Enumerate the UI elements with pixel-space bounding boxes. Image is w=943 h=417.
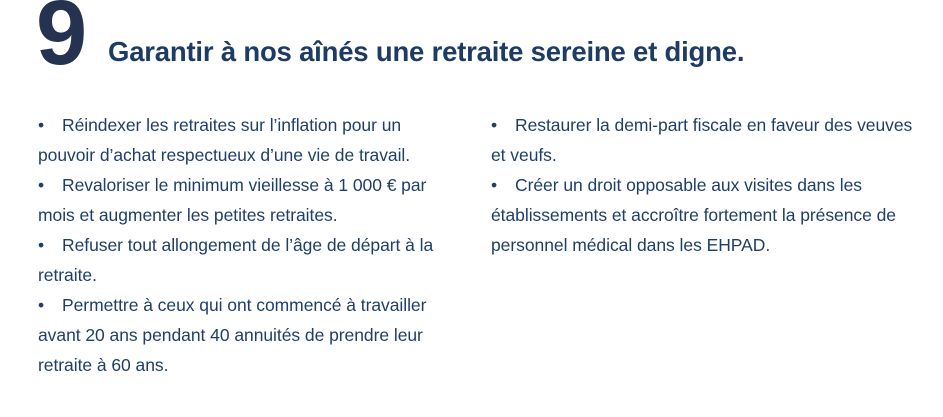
list-item: •Revaloriser le minimum vieillesse à 1 0… (38, 170, 458, 230)
list-item-text: Créer un droit opposable aux visites dan… (491, 175, 896, 255)
list-item-text: Réindexer les retraites sur l’inflation … (38, 115, 410, 165)
list-item-text: Restaurer la demi-part fiscale en faveur… (491, 115, 912, 165)
section-number: 9 (36, 0, 85, 79)
right-column: •Restaurer la demi-part fiscale en faveu… (491, 110, 916, 260)
list-item: •Permettre à ceux qui ont commencé à tra… (38, 290, 458, 380)
list-item: •Refuser tout allongement de l’âge de dé… (38, 230, 458, 290)
page-title: Garantir à nos aînés une retraite serein… (108, 35, 744, 69)
right-bullet-list: •Restaurer la demi-part fiscale en faveu… (491, 110, 916, 260)
section-header: 9 Garantir à nos aînés une retraite sere… (0, 0, 943, 96)
bullet-marker-icon: • (38, 230, 62, 260)
list-item: •Créer un droit opposable aux visites da… (491, 170, 916, 260)
left-bullet-list: •Réindexer les retraites sur l’inflation… (38, 110, 458, 380)
bullet-marker-icon: • (38, 110, 62, 140)
document-page: 9 Garantir à nos aînés une retraite sere… (0, 0, 943, 417)
bullet-marker-icon: • (491, 170, 515, 200)
list-item: •Réindexer les retraites sur l’inflation… (38, 110, 458, 170)
list-item-text: Permettre à ceux qui ont commencé à trav… (38, 295, 426, 375)
list-item-text: Revaloriser le minimum vieillesse à 1 00… (38, 175, 426, 225)
bullet-marker-icon: • (38, 170, 62, 200)
left-column: •Réindexer les retraites sur l’inflation… (38, 110, 458, 380)
bullet-marker-icon: • (491, 110, 515, 140)
list-item: •Restaurer la demi-part fiscale en faveu… (491, 110, 916, 170)
list-item-text: Refuser tout allongement de l’âge de dép… (38, 235, 433, 285)
bullet-marker-icon: • (38, 290, 62, 320)
